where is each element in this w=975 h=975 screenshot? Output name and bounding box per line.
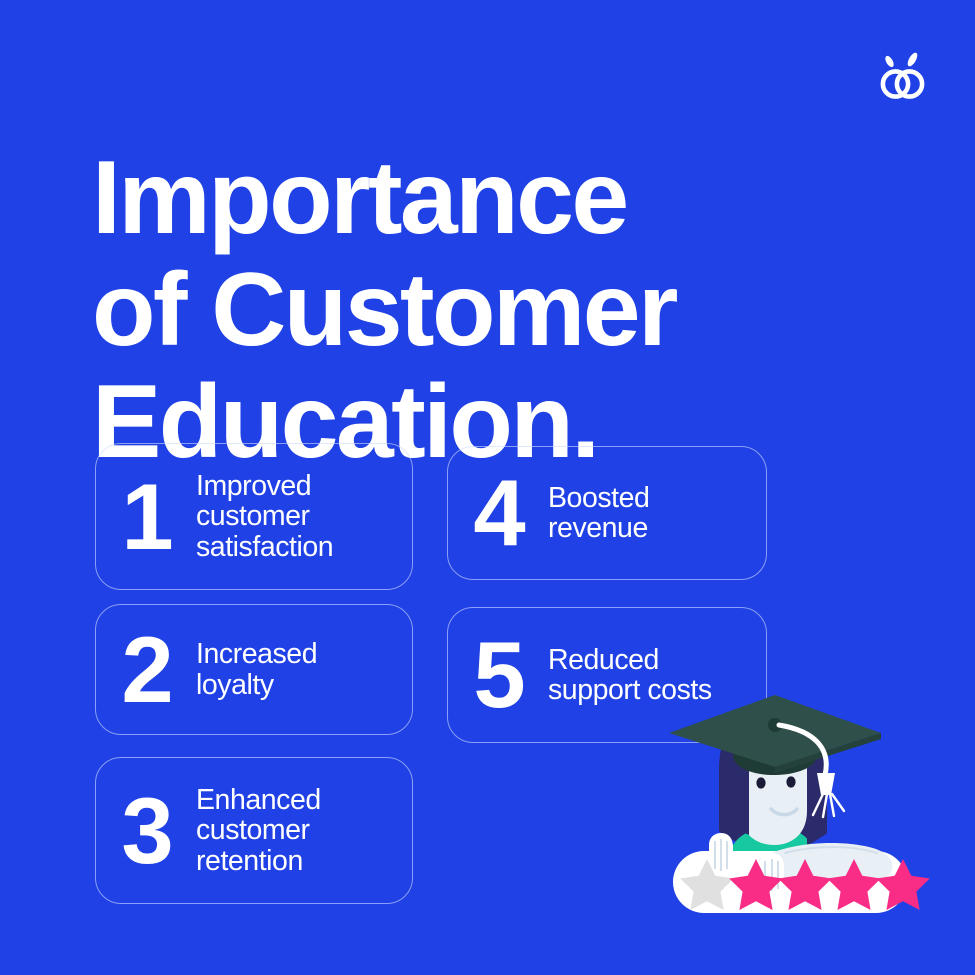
- benefit-card-5-number: 5: [454, 632, 542, 718]
- benefit-card-2[interactable]: 2 Increased loyalty: [95, 604, 413, 735]
- benefit-card-3-number: 3: [102, 787, 190, 875]
- benefit-card-3[interactable]: 3 Enhanced customer retention: [95, 757, 413, 904]
- apple-rings-logo: [871, 48, 933, 110]
- benefit-card-4[interactable]: 4 Boosted revenue: [447, 446, 767, 580]
- benefit-card-1-label: Improved customer satisfaction: [196, 471, 333, 563]
- benefit-card-1[interactable]: 1 Improved customer satisfaction: [95, 443, 413, 590]
- benefit-card-1-number: 1: [102, 473, 190, 561]
- benefit-card-3-label: Enhanced customer retention: [196, 785, 321, 877]
- benefit-card-4-number: 4: [454, 470, 542, 556]
- benefit-card-2-label: Increased loyalty: [196, 639, 317, 700]
- poster-canvas: Importance of Customer Education. 1 Impr…: [0, 0, 975, 975]
- graduate-with-rating-illustration: [655, 683, 925, 928]
- title-line-2: of Customer: [92, 254, 832, 366]
- benefit-card-4-label: Boosted revenue: [548, 483, 649, 544]
- page-title: Importance of Customer Education.: [92, 142, 832, 478]
- eye-right: [786, 776, 795, 787]
- benefit-card-2-number: 2: [102, 627, 190, 713]
- title-line-1: Importance: [92, 142, 832, 254]
- eye-left: [756, 777, 765, 788]
